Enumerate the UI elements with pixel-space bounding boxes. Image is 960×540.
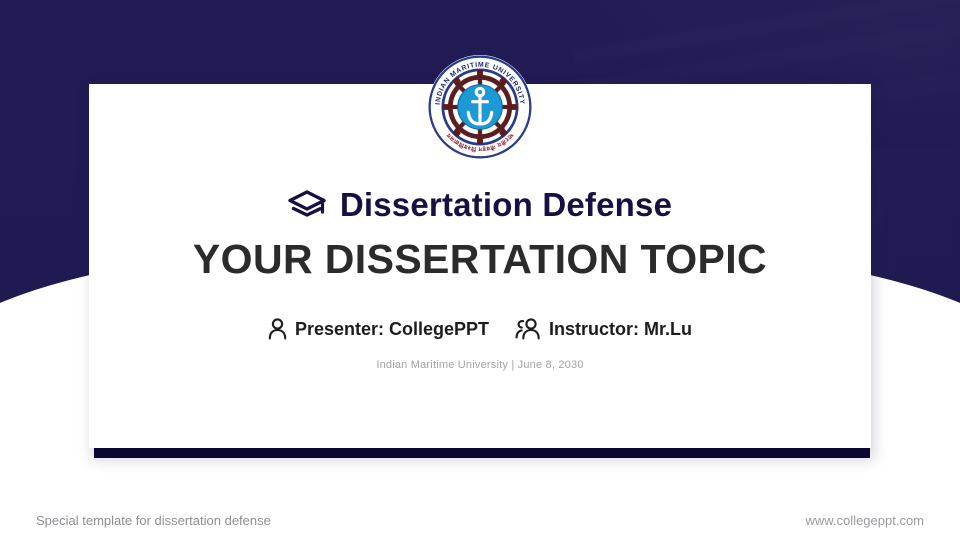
meta-line: Indian Maritime University | June 8, 203… <box>376 359 583 371</box>
presentation-slide: INDIAN MARITIME UNIVERSITY भारतीय नौवहन … <box>0 0 960 540</box>
content-card-bottom-bar <box>94 448 870 458</box>
footer-left-text: Special template for dissertation defens… <box>36 513 271 528</box>
university-logo-icon: INDIAN MARITIME UNIVERSITY भारतीय नौवहन … <box>427 54 533 160</box>
graduation-cap-icon <box>288 190 326 220</box>
people-row: Presenter: CollegePPT Instructor: Mr.Lu <box>268 318 692 340</box>
presenter-block: Presenter: CollegePPT <box>268 318 489 340</box>
user-icon <box>268 318 287 340</box>
presenter-label: Presenter: CollegePPT <box>295 320 489 338</box>
users-icon <box>515 318 541 340</box>
subject-label: Dissertation Defense <box>340 188 672 221</box>
instructor-label: Instructor: Mr.Lu <box>549 320 692 338</box>
instructor-block: Instructor: Mr.Lu <box>515 318 692 340</box>
subject-row: Dissertation Defense <box>288 188 672 221</box>
dissertation-topic-title: YOUR DISSERTATION TOPIC <box>193 239 767 280</box>
footer-website-link[interactable]: www.collegeppt.com <box>806 513 925 528</box>
